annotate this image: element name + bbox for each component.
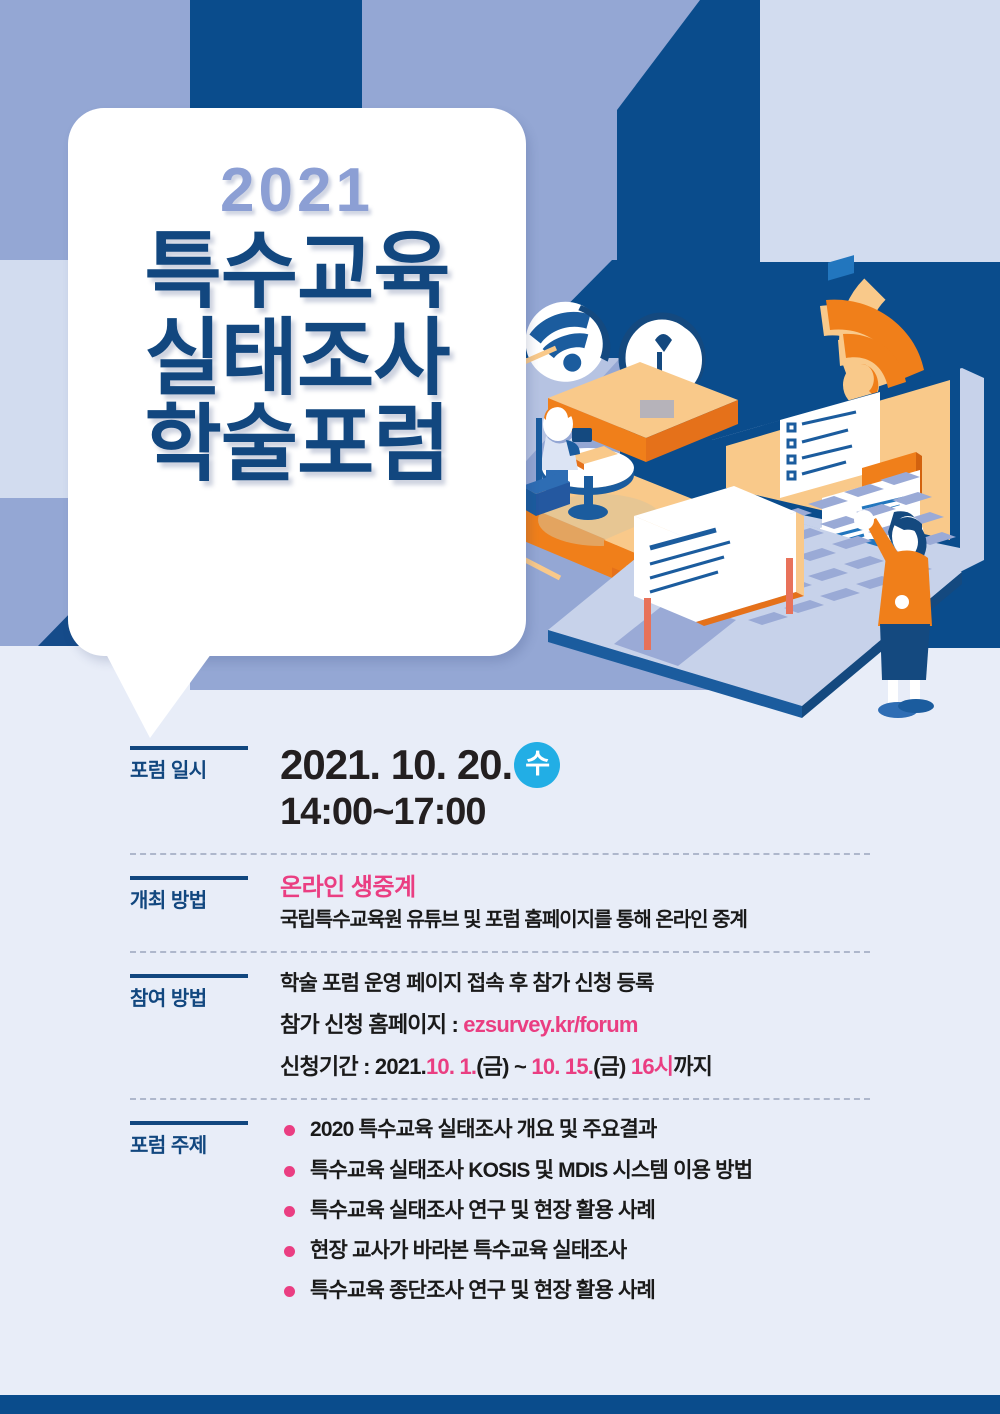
period-start-suffix: (금) bbox=[476, 1054, 509, 1079]
method-headline: 온라인 생중계 bbox=[280, 872, 1000, 903]
divider-1 bbox=[130, 853, 870, 855]
homepage-url[interactable]: ezsurvey.kr/forum bbox=[463, 1012, 637, 1037]
bottom-bar bbox=[0, 1395, 1000, 1414]
list-item: 특수교육 실태조사 연구 및 현장 활용 사례 bbox=[280, 1198, 1000, 1224]
divider-3 bbox=[130, 1098, 870, 1100]
info-row-participation: 참여 방법 학술 포럼 운영 페이지 접속 후 참가 신청 등록 참가 신청 홈… bbox=[0, 970, 1000, 1081]
period-end-suffix: (금) bbox=[593, 1054, 631, 1079]
period-end: 10. 15. bbox=[531, 1054, 593, 1079]
label-participation-method: 참여 방법 bbox=[130, 974, 248, 1014]
list-item: 현장 교사가 바라본 특수교육 실태조사 bbox=[280, 1238, 1000, 1264]
forum-time: 14:00~17:00 bbox=[280, 790, 1000, 836]
forum-date-line: 2021. 10. 20. 수 bbox=[280, 742, 1000, 788]
title-line-1: 특수교육 bbox=[144, 228, 449, 315]
participation-body: 학술 포럼 운영 페이지 접속 후 참가 신청 등록 참가 신청 홈페이지 : … bbox=[280, 970, 1000, 1081]
divider-2 bbox=[130, 951, 870, 953]
datetime-body: 2021. 10. 20. 수 14:00~17:00 bbox=[280, 742, 1000, 836]
info-row-method: 개최 방법 온라인 생중계 국립특수교육원 유튜브 및 포럼 홈페이지를 통해 … bbox=[0, 872, 1000, 934]
list-item: 2020 특수교육 실태조사 개요 및 주요결과 bbox=[280, 1117, 1000, 1143]
title-year: 2021 bbox=[220, 160, 374, 222]
title-block: 2021 특수교육 실태조사 학술포럼 bbox=[68, 108, 526, 656]
info-panel: 포럼 일시 2021. 10. 20. 수 14:00~17:00 개최 방법 … bbox=[0, 742, 1000, 1319]
method-detail: 국립특수교육원 유튜브 및 포럼 홈페이지를 통해 온라인 중계 bbox=[280, 907, 1000, 934]
topics-body: 2020 특수교육 실태조사 개요 및 주요결과 특수교육 실태조사 KOSIS… bbox=[280, 1117, 1000, 1318]
label-hosting-method: 개최 방법 bbox=[130, 876, 248, 916]
info-row-datetime: 포럼 일시 2021. 10. 20. 수 14:00~17:00 bbox=[0, 742, 1000, 836]
day-of-week-badge: 수 bbox=[514, 742, 560, 788]
info-row-topics: 포럼 주제 2020 특수교육 실태조사 개요 및 주요결과 특수교육 실태조사… bbox=[0, 1117, 1000, 1318]
title-line-3: 학술포럼 bbox=[144, 401, 449, 488]
list-item: 특수교육 실태조사 KOSIS 및 MDIS 시스템 이용 방법 bbox=[280, 1158, 1000, 1184]
title-line-2: 실태조사 bbox=[144, 315, 449, 402]
participation-step: 학술 포럼 운영 페이지 접속 후 참가 신청 등록 bbox=[280, 970, 1000, 997]
label-forum-datetime: 포럼 일시 bbox=[130, 746, 248, 786]
period-hour: 16시 bbox=[631, 1054, 673, 1079]
label-forum-topics: 포럼 주제 bbox=[130, 1121, 248, 1161]
list-item: 특수교육 종단조사 연구 및 현장 활용 사례 bbox=[280, 1278, 1000, 1304]
period-tail: 까지 bbox=[673, 1054, 712, 1079]
period-tilde: ~ bbox=[509, 1054, 532, 1079]
participation-homepage-line: 참가 신청 홈페이지 : ezsurvey.kr/forum bbox=[280, 1011, 1000, 1040]
homepage-label: 참가 신청 홈페이지 : bbox=[280, 1012, 463, 1037]
participation-period-line: 신청기간 : 2021.10. 1.(금) ~ 10. 15.(금) 16시까지 bbox=[280, 1053, 1000, 1082]
period-prefix: 신청기간 : 2021. bbox=[280, 1054, 426, 1079]
method-body: 온라인 생중계 국립특수교육원 유튜브 및 포럼 홈페이지를 통해 온라인 중계 bbox=[280, 872, 1000, 934]
bubble-tail bbox=[104, 650, 224, 738]
period-start: 10. 1. bbox=[426, 1054, 476, 1079]
topic-list: 2020 특수교육 실태조사 개요 및 주요결과 특수교육 실태조사 KOSIS… bbox=[280, 1117, 1000, 1304]
forum-date: 2021. 10. 20. bbox=[280, 742, 512, 787]
poster-root: 2021 특수교육 실태조사 학술포럼 포럼 일시 2021. 10. 20. … bbox=[0, 0, 1000, 1414]
